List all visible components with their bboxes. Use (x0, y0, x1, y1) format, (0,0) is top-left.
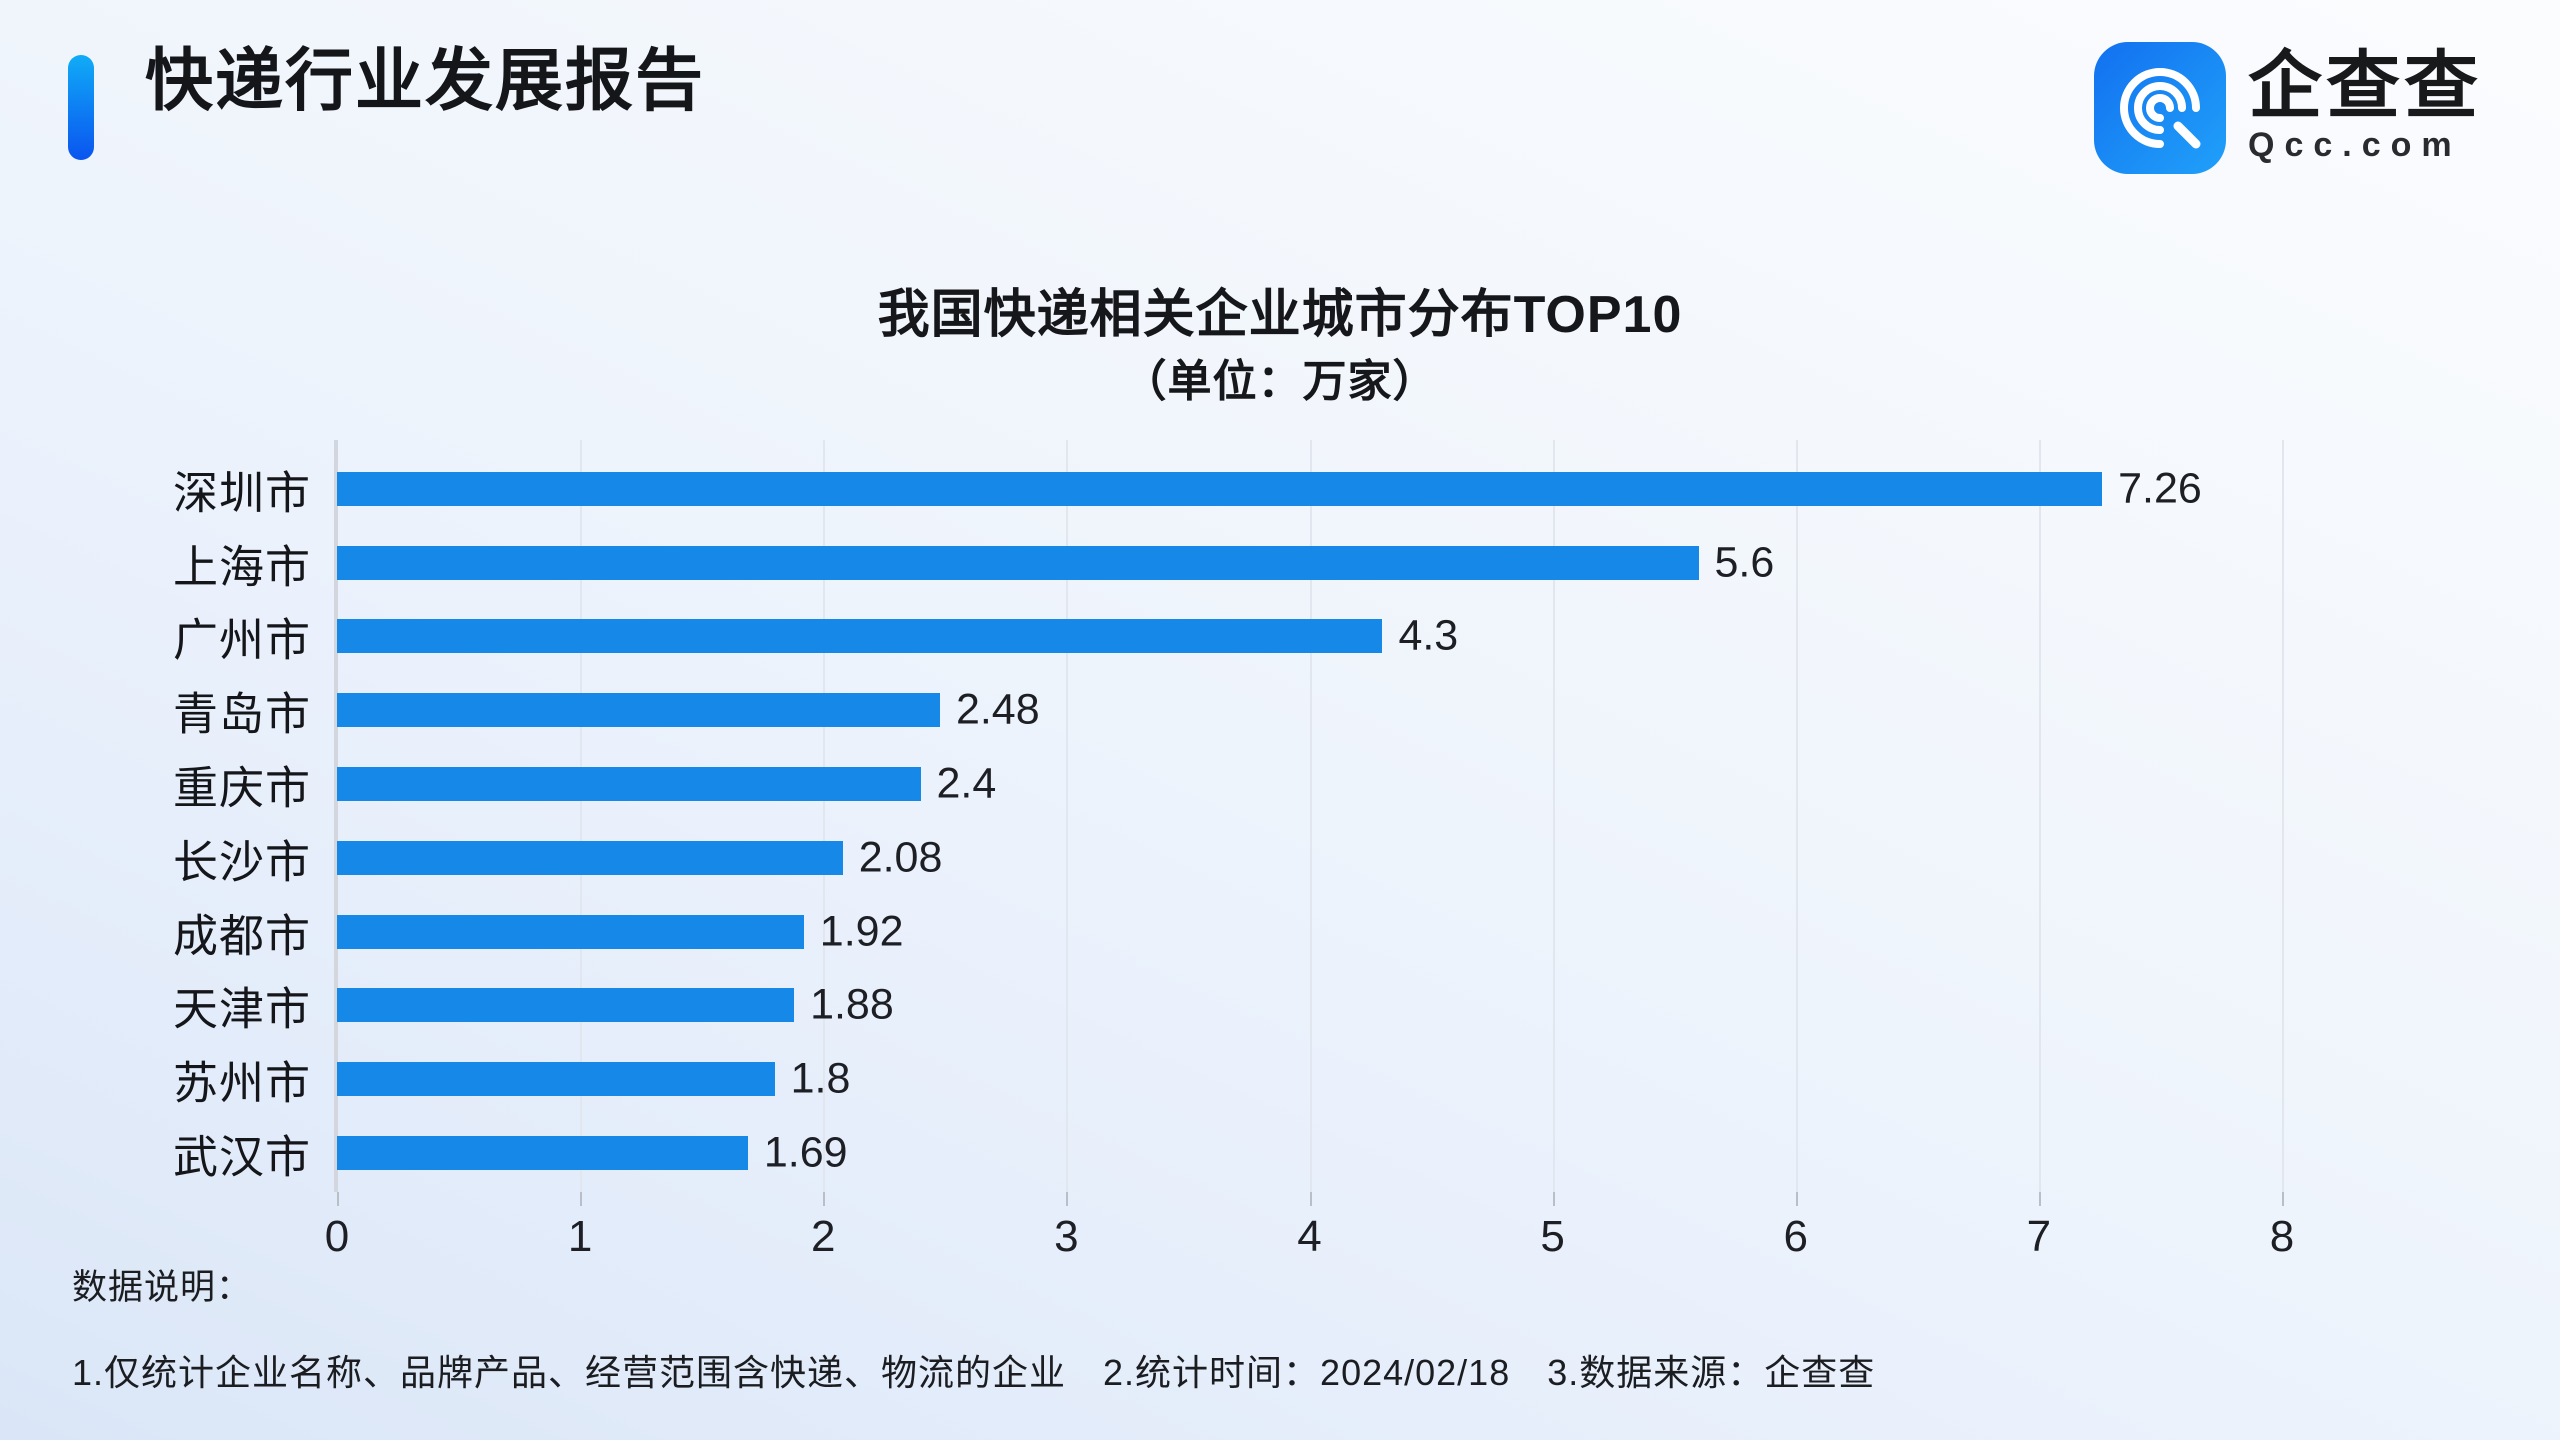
x-tick-label: 3 (1054, 1212, 1078, 1262)
category-label: 青岛市 (173, 678, 311, 743)
x-tick-mark (2282, 1192, 2284, 1206)
bar[interactable] (337, 915, 804, 949)
page-title: 快递行业发展报告 (145, 47, 705, 115)
chart-subtitle: （单位：万家） (0, 345, 2560, 409)
brand-text: 企查查 Qcc.com (2248, 47, 2482, 168)
brand-name-cn: 企查查 (2248, 47, 2482, 125)
category-label: 苏州市 (173, 1047, 311, 1112)
x-tick-mark (1066, 1192, 1068, 1206)
chart-title: 我国快递相关企业城市分布TOP10 (0, 272, 2560, 347)
bar-row[interactable]: 成都市1.92 (337, 895, 2282, 969)
title-accent-bar (68, 55, 94, 160)
brand-name-en: Qcc.com (2248, 127, 2482, 164)
footer-note-body: 1.仅统计企业名称、品牌产品、经营范围含快递、物流的企业 2.统计时间：2024… (72, 1344, 2472, 1396)
bar-row[interactable]: 青岛市2.48 (337, 673, 2282, 747)
category-label: 广州市 (173, 604, 311, 669)
bar[interactable] (337, 693, 940, 727)
x-tick-label: 2 (811, 1212, 835, 1262)
x-tick-label: 5 (1540, 1212, 1564, 1262)
category-label: 天津市 (173, 973, 311, 1038)
bar[interactable] (337, 841, 843, 875)
x-tick-mark (1310, 1192, 1312, 1206)
x-tick-mark (2039, 1192, 2041, 1206)
bar-row[interactable]: 重庆市2.4 (337, 747, 2282, 821)
bar-row[interactable]: 长沙市2.08 (337, 821, 2282, 895)
footer-notes: 数据说明： 1.仅统计企业名称、品牌产品、经营范围含快递、物流的企业 2.统计时… (72, 1259, 2472, 1396)
bar[interactable] (337, 546, 1699, 580)
qcc-logo-icon (2094, 42, 2226, 174)
report-page: 快递行业发展报告 企查查 Qcc.com 我国快递相关企业城市分布TOP10 （… (0, 0, 2560, 1440)
bar-value-label: 2.48 (956, 686, 1040, 735)
footer-note-heading: 数据说明： (72, 1259, 2472, 1310)
bar[interactable] (337, 767, 921, 801)
category-label: 重庆市 (173, 752, 311, 817)
bar-row[interactable]: 武汉市1.69 (337, 1116, 2282, 1190)
x-tick-mark (337, 1192, 339, 1206)
bar[interactable] (337, 619, 1382, 653)
bar-row[interactable]: 深圳市7.26 (337, 452, 2282, 526)
x-tick-label: 8 (2270, 1212, 2294, 1262)
bar[interactable] (337, 472, 2102, 506)
bar[interactable] (337, 1062, 775, 1096)
category-label: 深圳市 (173, 456, 311, 521)
bar-value-label: 7.26 (2118, 464, 2202, 513)
bar-row[interactable]: 上海市5.6 (337, 526, 2282, 600)
bar-value-label: 1.92 (820, 907, 904, 956)
x-tick-label: 7 (2027, 1212, 2051, 1262)
x-tick-label: 6 (1784, 1212, 1808, 1262)
category-label: 武汉市 (173, 1121, 311, 1186)
bar[interactable] (337, 1136, 748, 1170)
x-tick-mark (1553, 1192, 1555, 1206)
gridline (2282, 440, 2284, 1192)
chart-plot-area: 深圳市7.26上海市5.6广州市4.3青岛市2.48重庆市2.4长沙市2.08成… (337, 452, 2282, 1190)
bar-value-label: 1.69 (764, 1129, 848, 1178)
x-tick-label: 1 (568, 1212, 592, 1262)
bar[interactable] (337, 988, 794, 1022)
category-label: 成都市 (173, 899, 311, 964)
x-tick-mark (1796, 1192, 1798, 1206)
x-tick-mark (580, 1192, 582, 1206)
bar-value-label: 1.88 (810, 981, 894, 1030)
page-header: 快递行业发展报告 企查查 Qcc.com (0, 0, 2560, 218)
category-label: 长沙市 (173, 825, 311, 890)
x-tick-label: 0 (325, 1212, 349, 1262)
bar-value-label: 1.8 (791, 1055, 851, 1104)
bar-value-label: 5.6 (1715, 538, 1775, 587)
category-label: 上海市 (173, 530, 311, 595)
x-tick-mark (823, 1192, 825, 1206)
brand-logo: 企查查 Qcc.com (2094, 42, 2482, 174)
x-tick-label: 4 (1297, 1212, 1321, 1262)
bar-row[interactable]: 广州市4.3 (337, 600, 2282, 674)
bar-value-label: 2.4 (937, 760, 997, 809)
bar-row[interactable]: 天津市1.88 (337, 969, 2282, 1043)
bar-value-label: 2.08 (859, 833, 943, 882)
bar-row[interactable]: 苏州市1.8 (337, 1042, 2282, 1116)
bar-value-label: 4.3 (1398, 612, 1458, 661)
